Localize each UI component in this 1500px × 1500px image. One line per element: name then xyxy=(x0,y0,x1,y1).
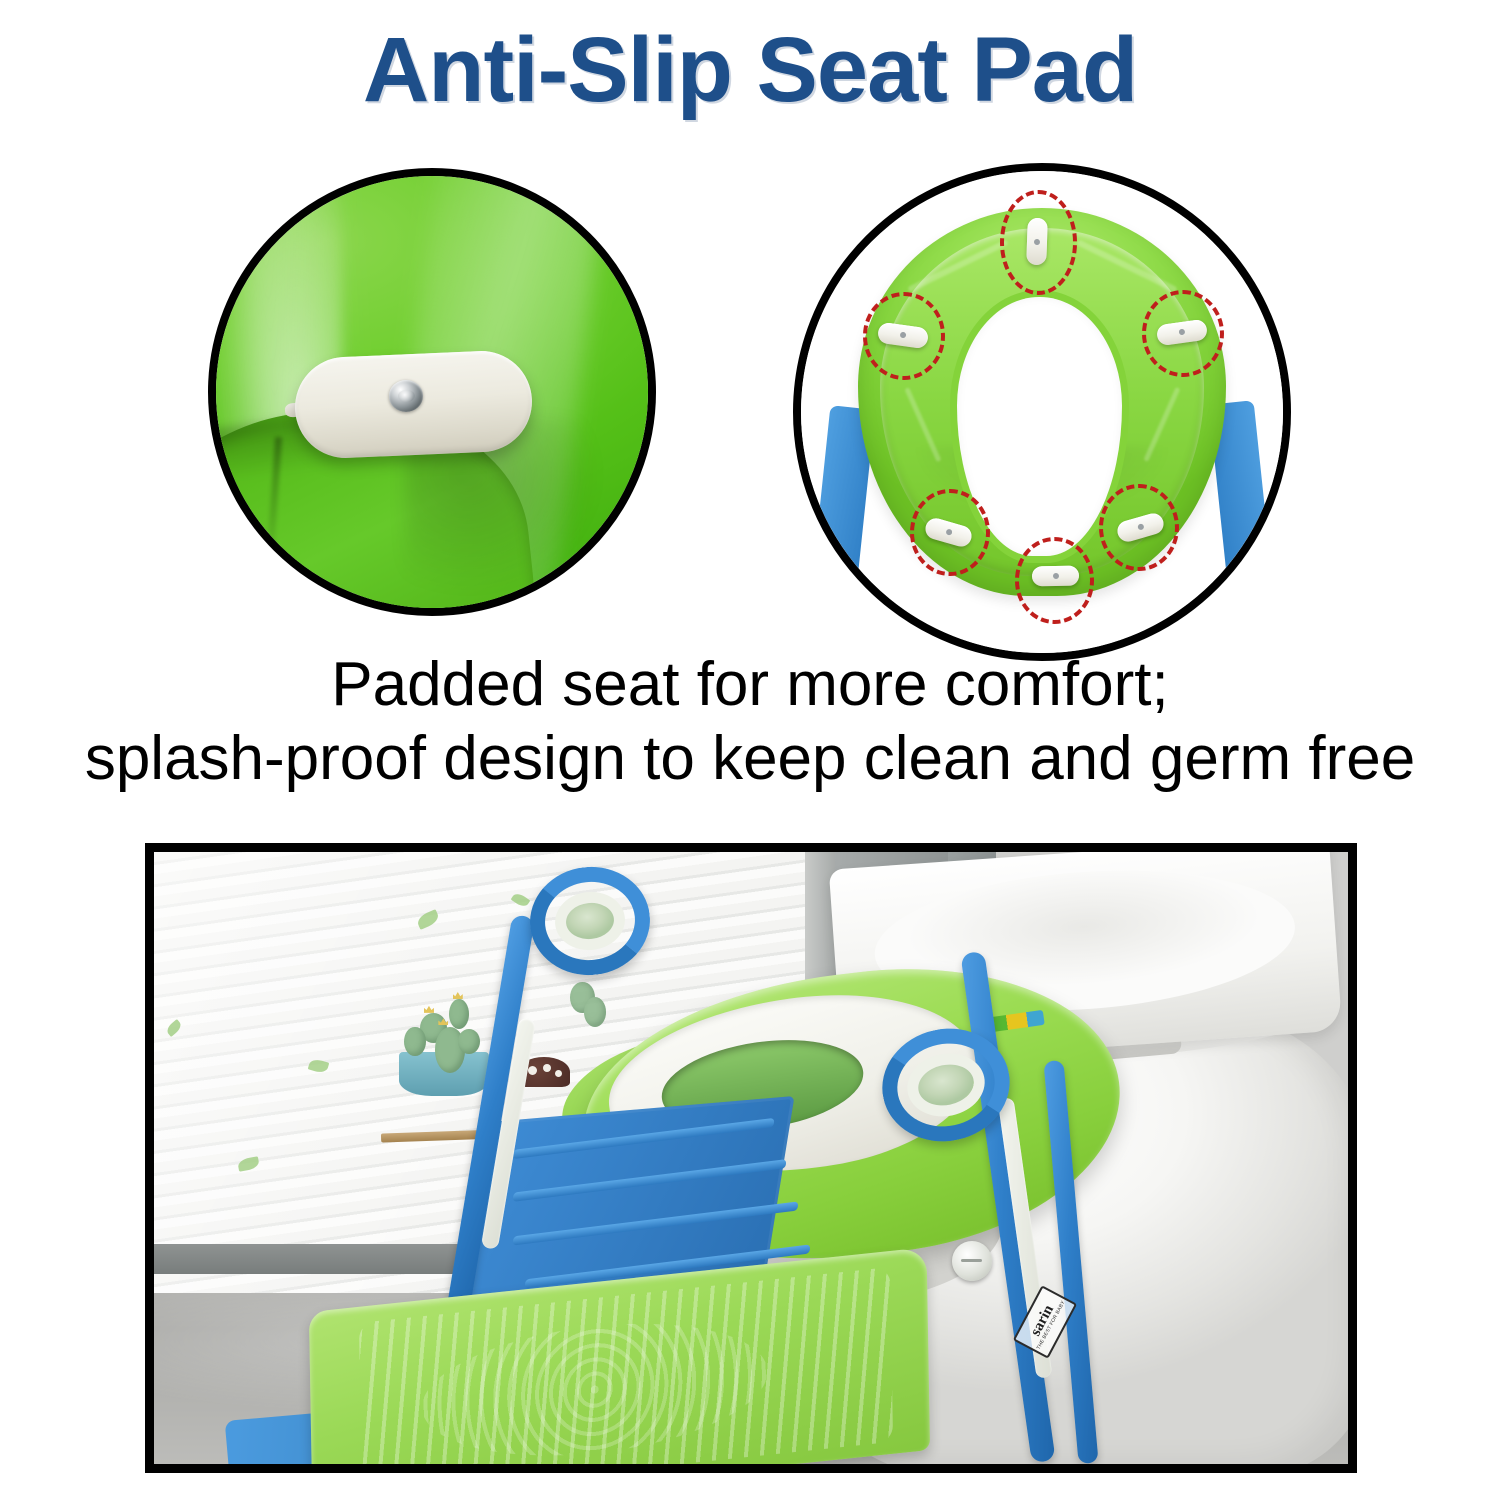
pad-highlight-ring xyxy=(1000,190,1077,295)
pad-highlight-ring xyxy=(910,489,990,576)
caption-block: Padded seat for more comfort; splash-pro… xyxy=(0,648,1500,796)
cactus-pad xyxy=(584,997,606,1027)
cactus-pad xyxy=(404,1027,426,1057)
mushroom-spot xyxy=(528,1066,537,1075)
cactus-decal-secondary xyxy=(554,962,616,1050)
callout-circle-underside-map xyxy=(793,163,1291,661)
pad-highlight-ring xyxy=(863,292,945,379)
crown-icon xyxy=(424,1006,434,1013)
cactus-pad xyxy=(449,999,469,1029)
mushroom-spot xyxy=(555,1070,562,1077)
product-photo: sarin THE BEST FOR BABY xyxy=(145,843,1357,1473)
pad-highlight-ring xyxy=(1099,484,1179,571)
pad-screw-icon xyxy=(389,380,423,411)
infographic-page: Anti-Slip Seat Pad xyxy=(0,0,1500,1500)
callout-circle-pad-closeup xyxy=(208,168,656,616)
pad-closeup-image xyxy=(208,168,656,616)
cactus-decal xyxy=(399,981,489,1096)
caption-line-1: Padded seat for more comfort; xyxy=(0,648,1500,722)
pivot-slot xyxy=(961,1259,982,1262)
seat-underside-image xyxy=(793,163,1291,661)
page-title: Anti-Slip Seat Pad xyxy=(0,22,1500,118)
caption-line-2: splash-proof design to keep clean and ge… xyxy=(0,722,1500,796)
cactus-pad xyxy=(458,1029,480,1054)
handle-pivot-knob[interactable] xyxy=(952,1241,992,1281)
mushroom-spot xyxy=(543,1064,551,1072)
pad-highlight-ring xyxy=(1142,290,1224,377)
product-photo-scene: sarin THE BEST FOR BABY xyxy=(154,852,1348,1464)
crown-icon xyxy=(453,992,463,999)
pad-highlight-ring xyxy=(1015,537,1095,624)
